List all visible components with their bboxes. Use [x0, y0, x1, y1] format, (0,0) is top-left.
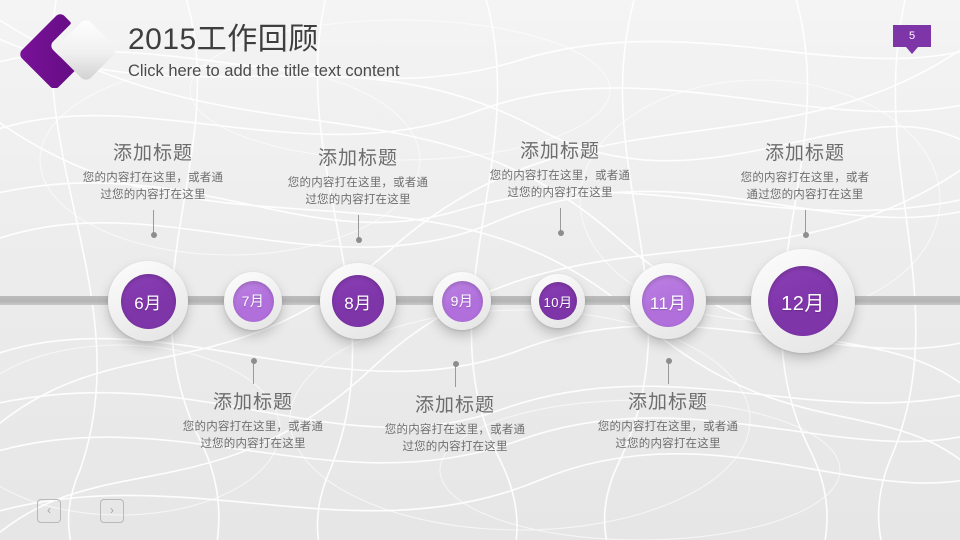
- prev-slide-button[interactable]: ‹: [37, 499, 61, 523]
- callout-heading: 添加标题: [563, 390, 773, 416]
- timeline-node-label: 7月: [242, 291, 265, 311]
- callout-body-line: 您的内容打在这里，或者通: [253, 175, 463, 192]
- timeline-node-label: 10月: [544, 292, 573, 311]
- callout-connector-dot: [151, 232, 157, 238]
- timeline-callout: 添加标题您的内容打在这里，或者通过您的内容打在这里: [350, 393, 560, 456]
- page-subtitle: Click here to add the title text content: [128, 60, 648, 82]
- timeline-node[interactable]: 9月: [433, 272, 491, 330]
- callout-body-line: 过您的内容打在这里: [563, 436, 773, 453]
- timeline-node-disc: 12月: [768, 266, 838, 336]
- callout-connector-dot: [453, 361, 459, 367]
- timeline-node-disc: 11月: [642, 275, 694, 327]
- callout-heading: 添加标题: [350, 393, 560, 419]
- callout-connector-dot: [356, 237, 362, 243]
- timeline-node-disc: 7月: [233, 281, 274, 322]
- callout-body: 您的内容打在这里，或者通过您的内容打在这里: [48, 170, 258, 204]
- timeline-node[interactable]: 6月: [108, 261, 188, 341]
- callout-body-line: 您的内容打在这里，或者通: [563, 419, 773, 436]
- callout-heading: 添加标题: [455, 139, 665, 165]
- timeline-node-label: 11月: [650, 289, 686, 314]
- timeline-node-disc: 6月: [121, 274, 176, 329]
- timeline-callout: 添加标题您的内容打在这里，或者通过您的内容打在这里: [148, 390, 358, 453]
- timeline-node-label: 9月: [451, 291, 474, 311]
- timeline-node[interactable]: 7月: [224, 272, 282, 330]
- timeline-node-label: 6月: [134, 289, 161, 314]
- timeline-callout: 添加标题您的内容打在这里，或者通过您的内容打在这里: [48, 141, 258, 204]
- callout-body-line: 您的内容打在这里，或者: [700, 170, 910, 187]
- callout-connector-dot: [251, 358, 257, 364]
- callout-connector-dot: [803, 232, 809, 238]
- callout-connector-dot: [666, 358, 672, 364]
- callout-body-line: 过您的内容打在这里: [455, 185, 665, 202]
- callout-body: 您的内容打在这里，或者通过您的内容打在这里: [455, 168, 665, 202]
- timeline-callout: 添加标题您的内容打在这里，或者通过您的内容打在这里: [455, 139, 665, 202]
- callout-body: 您的内容打在这里，或者通过您的内容打在这里: [148, 419, 358, 453]
- page-title: 2015工作回顾: [128, 22, 648, 58]
- page-title-block: 2015工作回顾 Click here to add the title tex…: [128, 22, 648, 82]
- callout-body: 您的内容打在这里，或者通过您的内容打在这里: [563, 419, 773, 453]
- callout-connector-dot: [558, 230, 564, 236]
- callout-body-line: 您的内容打在这里，或者通: [148, 419, 358, 436]
- callout-body-line: 过您的内容打在这里: [350, 439, 560, 456]
- callout-body-line: 您的内容打在这里，或者通: [350, 422, 560, 439]
- page-number-badge: 5: [893, 25, 931, 47]
- timeline-node-label: 12月: [781, 287, 825, 316]
- timeline-node[interactable]: 8月: [320, 263, 396, 339]
- timeline-node-label: 8月: [344, 289, 371, 314]
- next-slide-button[interactable]: ›: [100, 499, 124, 523]
- timeline-node-disc: 9月: [442, 281, 483, 322]
- callout-body-line: 过您的内容打在这里: [148, 436, 358, 453]
- callout-body: 您的内容打在这里，或者通过您的内容打在这里: [350, 422, 560, 456]
- timeline-node-disc: 10月: [539, 282, 577, 320]
- brand-logo-icon: [18, 12, 130, 88]
- timeline-node[interactable]: 12月: [751, 249, 855, 353]
- callout-body-line: 您的内容打在这里，或者通: [48, 170, 258, 187]
- callout-heading: 添加标题: [148, 390, 358, 416]
- callout-heading: 添加标题: [700, 141, 910, 167]
- timeline-node[interactable]: 11月: [630, 263, 706, 339]
- slide-canvas: 2015工作回顾 Click here to add the title tex…: [0, 0, 960, 540]
- callout-body-line: 您的内容打在这里，或者通: [455, 168, 665, 185]
- callout-body-line: 过您的内容打在这里: [253, 192, 463, 209]
- callout-body: 您的内容打在这里，或者通过您的内容打在这里: [700, 170, 910, 204]
- timeline-callout: 添加标题您的内容打在这里，或者通过您的内容打在这里: [253, 146, 463, 209]
- timeline-node[interactable]: 10月: [531, 274, 585, 328]
- callout-heading: 添加标题: [48, 141, 258, 167]
- callout-body-line: 过您的内容打在这里: [48, 187, 258, 204]
- timeline-callout: 添加标题您的内容打在这里，或者通过您的内容打在这里: [563, 390, 773, 453]
- callout-body: 您的内容打在这里，或者通过您的内容打在这里: [253, 175, 463, 209]
- callout-body-line: 通过您的内容打在这里: [700, 187, 910, 204]
- timeline-node-disc: 8月: [332, 275, 384, 327]
- callout-heading: 添加标题: [253, 146, 463, 172]
- timeline-callout: 添加标题您的内容打在这里，或者通过您的内容打在这里: [700, 141, 910, 204]
